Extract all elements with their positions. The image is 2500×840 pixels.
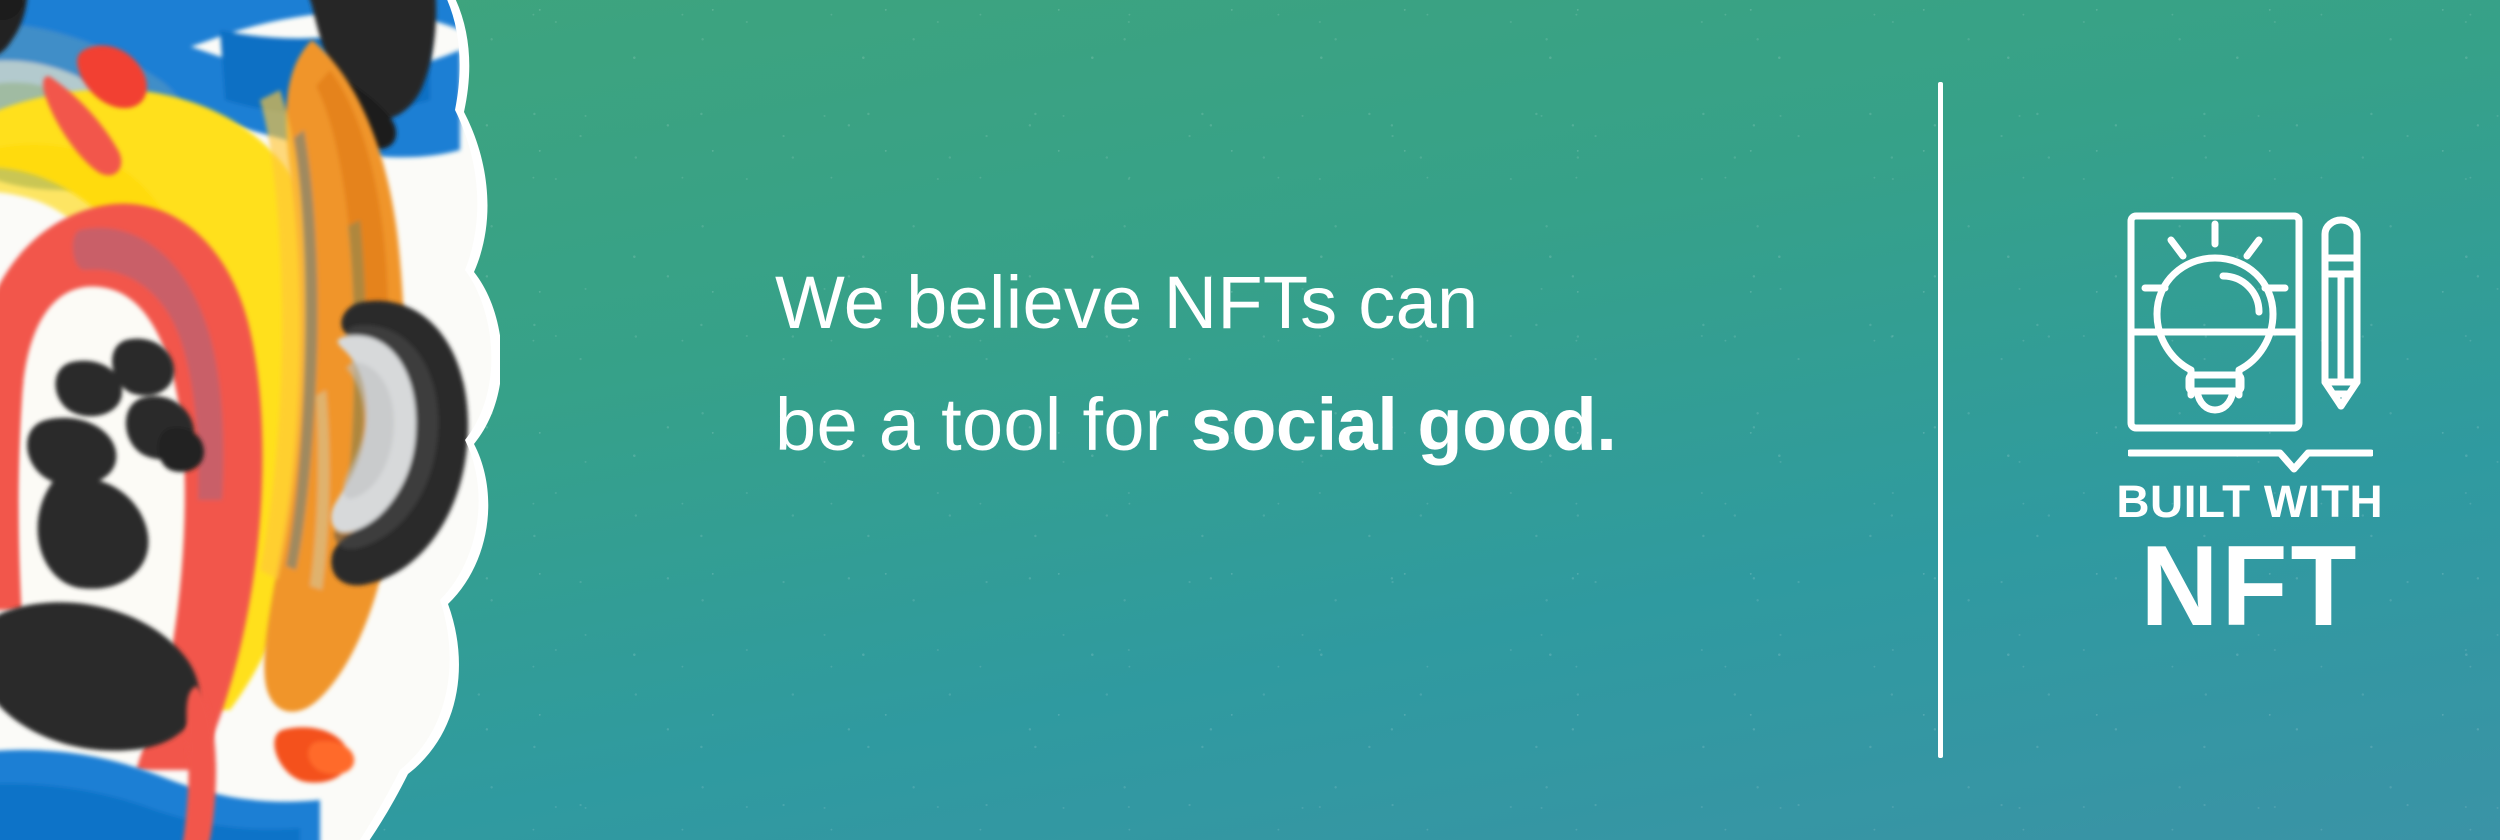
badge-nft-label: NFT bbox=[2141, 529, 2360, 643]
lightbulb-page-and-pencil-icon bbox=[2125, 210, 2375, 445]
headline-line-2: be a tool for social good. bbox=[775, 377, 1895, 473]
vertical-divider bbox=[1938, 82, 1943, 758]
underline-with-notch bbox=[2128, 449, 2373, 473]
built-with-nft-banner: We believe NFTs can be a tool for social… bbox=[0, 0, 2500, 840]
child-painting-svg bbox=[0, 0, 500, 840]
bulb-highlight bbox=[2223, 276, 2259, 312]
headline: We believe NFTs can be a tool for social… bbox=[775, 255, 1895, 473]
artwork-paint-layers bbox=[0, 0, 500, 840]
ray-top-left bbox=[2171, 240, 2183, 256]
built-with-nft-badge: BUILT WITH NFT bbox=[2100, 210, 2400, 640]
headline-line-1: We believe NFTs can bbox=[775, 255, 1895, 351]
ray-top-right bbox=[2247, 240, 2259, 256]
headline-emphasis: social good. bbox=[1191, 383, 1617, 466]
artwork-image bbox=[0, 0, 500, 840]
badge-built-with-label: BUILT WITH bbox=[2117, 479, 2384, 524]
pencil-lead bbox=[2334, 394, 2348, 406]
headline-line-2-prefix: be a tool for bbox=[775, 383, 1191, 466]
